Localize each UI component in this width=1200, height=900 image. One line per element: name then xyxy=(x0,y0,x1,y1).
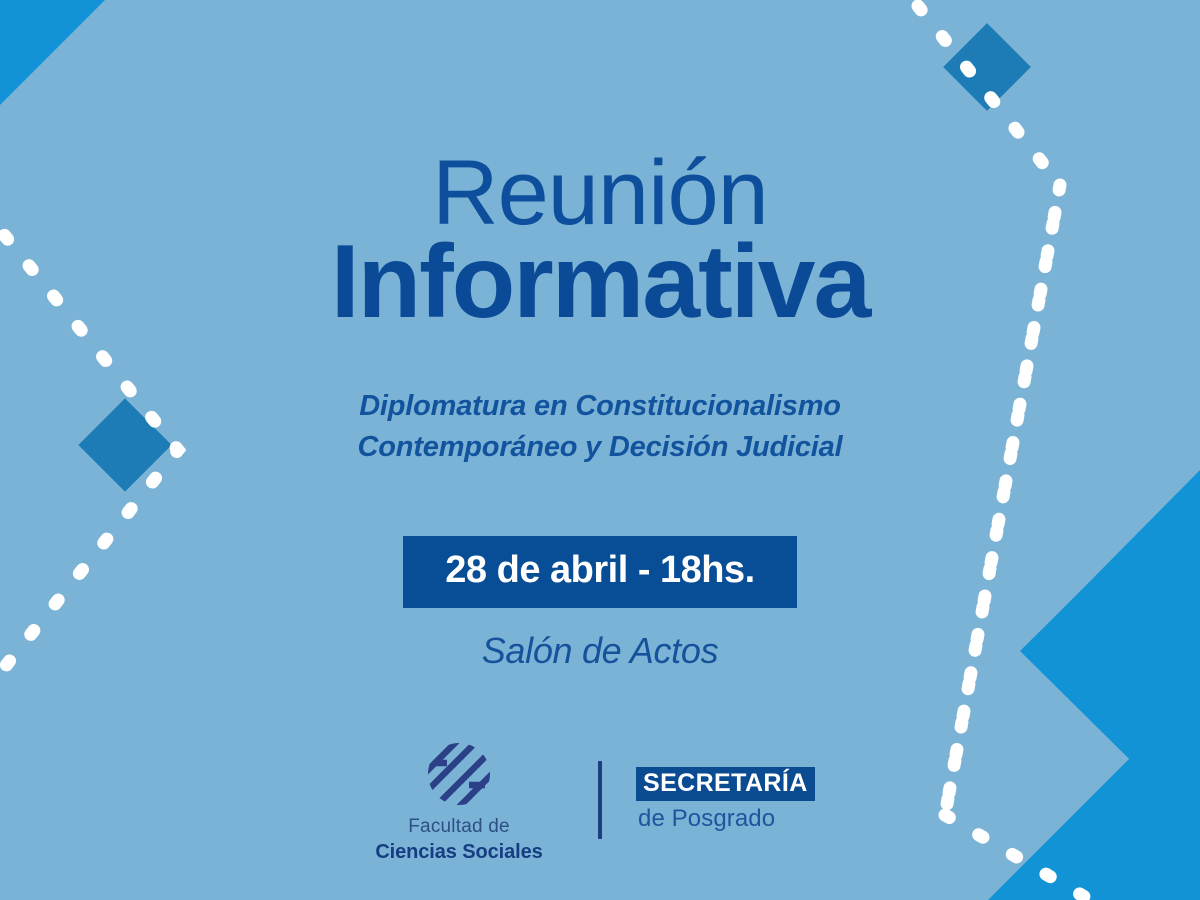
subtitle-line-1: Diplomatura en Constitucionalismo xyxy=(358,386,843,427)
subtitle-line-2: Contemporáneo y Decisión Judicial xyxy=(358,427,843,468)
logo-divider-icon xyxy=(598,761,602,839)
faculty-logo-block: Facultad de Ciencias Sociales xyxy=(354,741,564,864)
faculty-line-1: Facultad de xyxy=(408,816,510,838)
faculty-line-2: Ciencias Sociales xyxy=(375,841,542,864)
title-line-2: Informativa xyxy=(331,232,870,334)
page-title: Reunión Informativa xyxy=(331,148,870,334)
program-subtitle: Diplomatura en Constitucionalismo Contem… xyxy=(358,386,843,468)
poster-canvas: Reunión Informativa Diplomatura en Const… xyxy=(0,0,1200,900)
secretariat-line-2: de Posgrado xyxy=(636,805,775,833)
footer-logos: Facultad de Ciencias Sociales SECRETARÍA… xyxy=(0,741,1200,864)
uba-sociales-emblem-icon xyxy=(423,741,495,807)
date-badge: 28 de abril - 18hs. xyxy=(403,536,796,608)
secretariat-line-1: SECRETARÍA xyxy=(636,767,815,801)
secretariat-logo-block: SECRETARÍA de Posgrado xyxy=(636,767,846,833)
venue-label: Salón de Actos xyxy=(482,630,719,672)
